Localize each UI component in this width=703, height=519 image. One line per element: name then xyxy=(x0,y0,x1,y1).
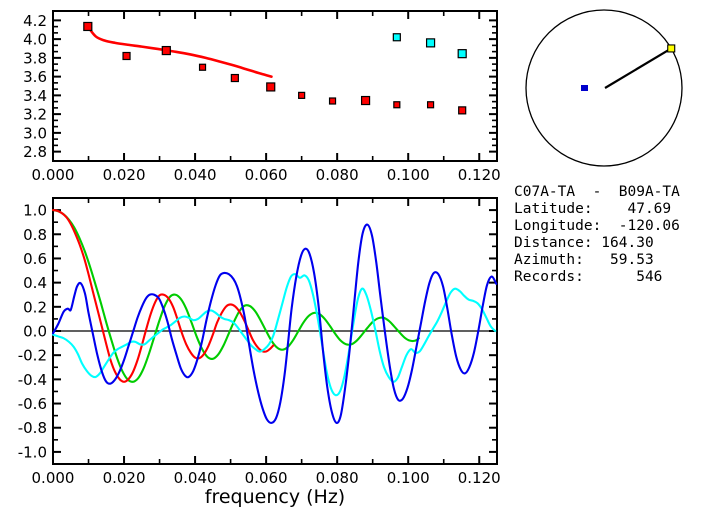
paired-station-marker xyxy=(668,45,675,52)
x-tick-label: 0.100 xyxy=(387,166,430,184)
longitude-row: Longitude: -120.06 xyxy=(514,218,680,234)
dispersion-data-markers xyxy=(84,22,466,113)
y-tick-label: -0.6 xyxy=(18,395,47,413)
figure-root: 2.83.03.23.43.63.84.04.2 0.0000.0200.040… xyxy=(0,0,703,519)
y-tick-label: 0.6 xyxy=(23,250,47,268)
x-tick-label: 0.080 xyxy=(316,166,359,184)
reference-station-marker xyxy=(581,85,588,91)
spectra-panel: -1.0-0.8-0.6-0.4-0.20.00.20.40.60.81.0 0… xyxy=(18,198,501,508)
y-tick-label: 4.2 xyxy=(23,12,47,30)
dispersion-point xyxy=(162,47,170,55)
y-tick-label: 3.6 xyxy=(23,68,47,86)
y-tick-label: 0.0 xyxy=(23,323,47,341)
y-tick-label: 1.0 xyxy=(23,202,47,220)
y-tick-label: 0.4 xyxy=(23,274,47,292)
dispersion-point xyxy=(362,97,370,105)
records-row: Records: 546 xyxy=(514,269,662,285)
x-tick-label: 0.020 xyxy=(103,469,146,487)
x-tick-label: 0.040 xyxy=(174,166,217,184)
x-tick-label: 0.060 xyxy=(245,166,288,184)
y-tick-label: 3.8 xyxy=(23,49,47,67)
dispersion-point xyxy=(267,83,275,91)
dispersion-y-tick-labels: 2.83.03.23.43.63.84.04.2 xyxy=(23,12,47,161)
x-tick-label: 0.020 xyxy=(103,166,146,184)
y-tick-label: -0.8 xyxy=(18,419,47,437)
x-axis-title: frequency (Hz) xyxy=(205,486,345,508)
x-tick-label: 0.120 xyxy=(458,469,501,487)
great-circle-path xyxy=(605,48,671,88)
station-info-block: C07A-TA - B09A-TA Latitude: 47.69 Longit… xyxy=(514,184,680,285)
y-tick-label: -0.4 xyxy=(18,371,47,389)
y-tick-label: 3.2 xyxy=(23,106,47,124)
y-tick-label: -1.0 xyxy=(18,443,47,461)
latitude-row: Latitude: 47.69 xyxy=(514,201,671,217)
x-tick-label: 0.060 xyxy=(245,469,288,487)
spectrum-curve-observed-spectrum xyxy=(53,225,496,423)
dispersion-point xyxy=(459,107,466,114)
y-tick-label: 3.4 xyxy=(23,87,47,105)
dispersion-point xyxy=(123,53,130,60)
dispersion-fit-curve xyxy=(88,26,272,76)
spectra-y-tick-labels: -1.0-0.8-0.6-0.4-0.20.00.20.40.60.81.0 xyxy=(18,202,47,462)
seismic-figure: 2.83.03.23.43.63.84.04.2 0.0000.0200.040… xyxy=(0,0,703,519)
paired-station-dot xyxy=(668,45,675,52)
distance-row: Distance: 164.30 xyxy=(514,235,654,251)
x-tick-label: 0.040 xyxy=(174,469,217,487)
azimuth-map xyxy=(526,10,682,166)
dispersion-point xyxy=(330,98,336,104)
x-tick-label: 0.100 xyxy=(387,469,430,487)
dispersion-point xyxy=(458,50,466,58)
spectra-x-tick-labels: 0.0000.0200.0400.0600.0800.1000.120 xyxy=(32,469,501,487)
spectrum-curve-predicted-spectrum-green xyxy=(53,210,419,382)
dispersion-point xyxy=(84,22,92,30)
x-tick-label: 0.120 xyxy=(458,166,501,184)
y-tick-label: 4.0 xyxy=(23,31,47,49)
dispersion-point xyxy=(428,102,434,108)
y-tick-label: -0.2 xyxy=(18,347,47,365)
y-tick-label: 0.2 xyxy=(23,298,47,316)
dispersion-panel: 2.83.03.23.43.63.84.04.2 0.0000.0200.040… xyxy=(23,11,501,184)
station-pair-label: C07A-TA - B09A-TA xyxy=(514,184,680,200)
dispersion-point xyxy=(231,75,238,82)
y-tick-label: 2.8 xyxy=(23,143,47,161)
dispersion-point xyxy=(393,34,400,41)
azimuth-row: Azimuth: 59.53 xyxy=(514,252,654,268)
dispersion-curves xyxy=(88,26,272,76)
y-tick-label: 3.0 xyxy=(23,124,47,142)
dispersion-point xyxy=(299,92,305,98)
x-tick-label: 0.000 xyxy=(32,469,75,487)
x-tick-label: 0.000 xyxy=(32,166,75,184)
dispersion-x-tick-labels: 0.0000.0200.0400.0600.0800.1000.120 xyxy=(32,166,501,184)
y-tick-label: 0.8 xyxy=(23,226,47,244)
azimuth-circle xyxy=(526,10,682,166)
dispersion-point xyxy=(200,64,206,70)
dispersion-point xyxy=(394,102,400,108)
spectra-curves xyxy=(53,210,496,423)
dispersion-point xyxy=(427,39,435,47)
spectrum-curve-smoothed-spectrum xyxy=(53,274,495,395)
x-tick-label: 0.080 xyxy=(316,469,359,487)
